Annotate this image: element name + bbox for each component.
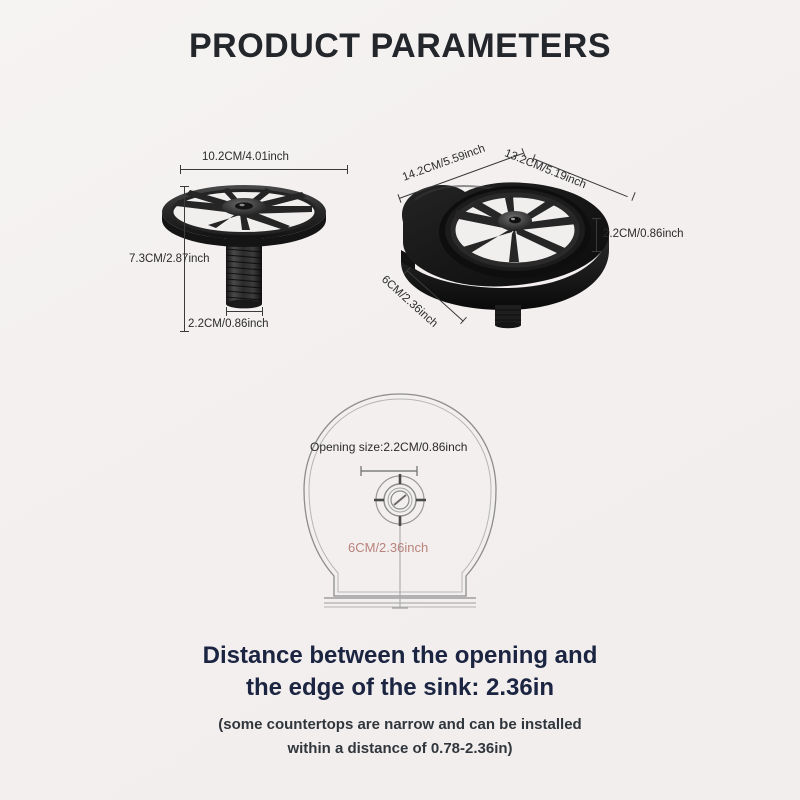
page-title: PRODUCT PARAMETERS — [0, 27, 800, 66]
product-two-thickness-rule — [596, 218, 597, 252]
product-parameters-page: PRODUCT PARAMETERS — [0, 0, 800, 800]
threaded-stem — [226, 238, 262, 308]
caption-note-line-1: (some countertops are narrow and can be … — [0, 713, 800, 737]
product-two-thickness-label: 2.2CM/0.86inch — [603, 228, 684, 240]
product-one-width-label: 10.2CM/4.01inch — [202, 151, 289, 163]
product-one-stem-label: 2.2CM/0.86inch — [188, 318, 269, 330]
product-one-height-label: 7.3CM/2.87inch — [129, 253, 210, 265]
product-one-width-rule — [180, 169, 348, 170]
opening-detail — [374, 474, 426, 526]
housing-body — [401, 182, 609, 328]
product-two-thickness-tick-bottom — [592, 251, 601, 252]
wheel-disc — [162, 185, 326, 247]
caption-note-line-2: within a distance of 0.78-2.36in) — [0, 737, 800, 761]
caption-line-2: the edge of the sink: 2.36in — [0, 672, 800, 704]
sink-outline-svg — [290, 390, 510, 620]
product-one-illustration: 10.2CM/4.01inch 7.3CM/2.87inch 2.2CM/0.8… — [150, 150, 380, 350]
caption-line-1: Distance between the opening and — [0, 640, 800, 672]
sink-opening-diagram: Opening size:2.2CM/0.86inch 6CM/2.36inch — [290, 390, 510, 620]
product-one-width-tick-right — [347, 165, 348, 174]
sink-opening-size-label: Opening size:2.2CM/0.86inch — [310, 440, 467, 454]
product-one-stem-rule — [226, 311, 262, 312]
product-two-thickness-tick-top — [592, 218, 601, 219]
product-one-height-tick-top — [180, 186, 189, 187]
product-two-illustration: 14.2CM/5.59inch 13.2CM/5.19inch 2.2CM/0.… — [385, 150, 645, 335]
product-one-stem-tick-left — [226, 307, 227, 316]
sink-edge-distance-label: 6CM/2.36inch — [348, 540, 428, 555]
product-one-width-tick-left — [180, 165, 181, 174]
product-one-height-tick-bottom — [180, 331, 189, 332]
product-one-stem-tick-right — [262, 307, 263, 316]
